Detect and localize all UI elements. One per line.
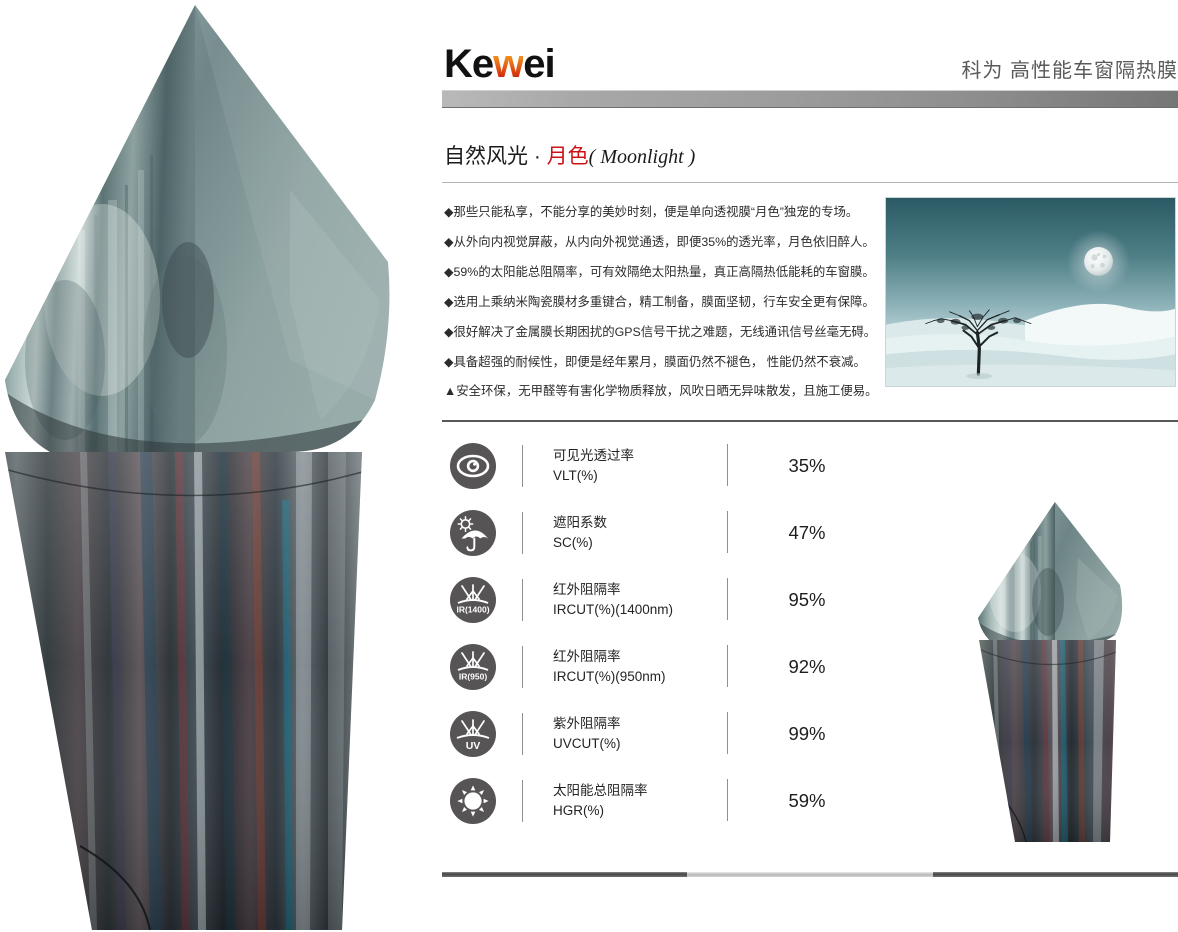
- title-cn-accent: 月色: [547, 145, 589, 168]
- spec-value: 92%: [762, 633, 852, 700]
- feature-bullet-list: ◆那些只能私享，不能分享的美妙时刻，便是单向透视膜“月色”独宠的专场。 ◆从外向…: [444, 206, 862, 415]
- title-cn-prefix: 自然风光 ·: [444, 145, 547, 168]
- table-row: IR(1400) 红外阻隔率 IRCUT(%)(1400nm) 95%: [442, 566, 852, 633]
- brochure-page: Kewei 科为 高性能车窗隔热膜 自然风光 · 月色( Moonlight )…: [0, 0, 1178, 932]
- spec-value: 59%: [762, 767, 852, 834]
- icon-column-divider: [522, 780, 523, 822]
- logo-text-prefix: Ke: [444, 42, 493, 86]
- bullet-item: ◆具备超强的耐候性，即便是经年累月，膜面仍然不褪色， 性能仍然不衰减。: [444, 356, 862, 368]
- logo-text-suffix: ei: [523, 42, 554, 86]
- title-divider: [442, 182, 1178, 183]
- table-row: 遮阳系数 SC(%) 47%: [442, 499, 852, 566]
- bullet-item: ◆那些只能私享，不能分享的美妙时刻，便是单向透视膜“月色”独宠的专场。: [444, 206, 862, 218]
- product-thumbnail-image: [960, 490, 1178, 850]
- value-column-divider: [727, 511, 728, 553]
- bullet-item: ◆选用上乘纳米陶瓷膜材多重键合，精工制备，膜面坚韧，行车安全更有保障。: [444, 296, 862, 308]
- sun-umbrella-icon: [450, 510, 496, 556]
- moonlight-photo: [885, 197, 1176, 387]
- bullet-item: ▲安全环保，无甲醛等有害化学物质释放，风吹日晒无异味散发，且施工便易。: [444, 385, 862, 397]
- table-row: 太阳能总阻隔率 HGR(%) 59%: [442, 767, 852, 834]
- ir950-badge-text: IR(950): [459, 671, 488, 681]
- film-roll-body: [0, 440, 430, 932]
- spec-value: 47%: [762, 499, 852, 566]
- footer-bar-segment-right: [933, 872, 1178, 877]
- content-column: Kewei 科为 高性能车窗隔热膜 自然风光 · 月色( Moonlight )…: [440, 0, 1178, 932]
- logo-accent-letter: w: [493, 42, 523, 86]
- value-column-divider: [727, 578, 728, 620]
- footer-bar: [442, 872, 1178, 877]
- page-title: 自然风光 · 月色( Moonlight ): [444, 140, 695, 170]
- bullet-item: ◆59%的太阳能总阻隔率，可有效隔绝太阳热量，真正高隔热低能耗的车窗膜。: [444, 266, 862, 278]
- icon-column-divider: [522, 512, 523, 554]
- sun-icon: [450, 778, 496, 824]
- footer-bar-segment-center: [687, 872, 933, 877]
- ir950-icon: IR(950): [450, 644, 496, 690]
- table-row: UV 紫外阻隔率 UVCUT(%) 99%: [442, 700, 852, 767]
- icon-column-divider: [522, 579, 523, 621]
- ir1400-icon: IR(1400): [450, 577, 496, 623]
- spec-value: 95%: [762, 566, 852, 633]
- value-column-divider: [727, 712, 728, 754]
- spec-value: 99%: [762, 700, 852, 767]
- value-column-divider: [727, 645, 728, 687]
- product-hero-image: [0, 0, 430, 932]
- table-row: 可见光透过率 VLT(%) 35%: [442, 432, 852, 499]
- eye-icon: [450, 443, 496, 489]
- brand-tagline: 科为 高性能车窗隔热膜: [961, 54, 1178, 83]
- uv-badge-text: UV: [466, 740, 481, 752]
- spec-table-divider: [442, 420, 1178, 422]
- icon-column-divider: [522, 646, 523, 688]
- icon-column-divider: [522, 445, 523, 487]
- spec-table: 可见光透过率 VLT(%) 35%: [442, 432, 852, 834]
- bullet-item: ◆从外向内视觉屏蔽，从内向外视觉通透，即便35%的透光率，月色依旧醉人。: [444, 236, 862, 248]
- icon-column-divider: [522, 713, 523, 755]
- uv-icon: UV: [450, 711, 496, 757]
- ir1400-badge-text: IR(1400): [456, 604, 489, 614]
- footer-bar-segment-left: [442, 872, 687, 877]
- spec-value: 35%: [762, 432, 852, 499]
- title-en: ( Moonlight ): [589, 146, 696, 168]
- header-silver-bar: [442, 90, 1178, 108]
- value-column-divider: [727, 444, 728, 486]
- bullet-item: ◆很好解决了金属膜长期困扰的GPS信号干扰之难题，无线通讯信号丝毫无碍。: [444, 326, 862, 338]
- table-row: IR(950) 红外阻隔率 IRCUT(%)(950nm) 92%: [442, 633, 852, 700]
- brand-logo: Kewei: [444, 44, 555, 84]
- value-column-divider: [727, 779, 728, 821]
- film-roll-top: [0, 0, 430, 460]
